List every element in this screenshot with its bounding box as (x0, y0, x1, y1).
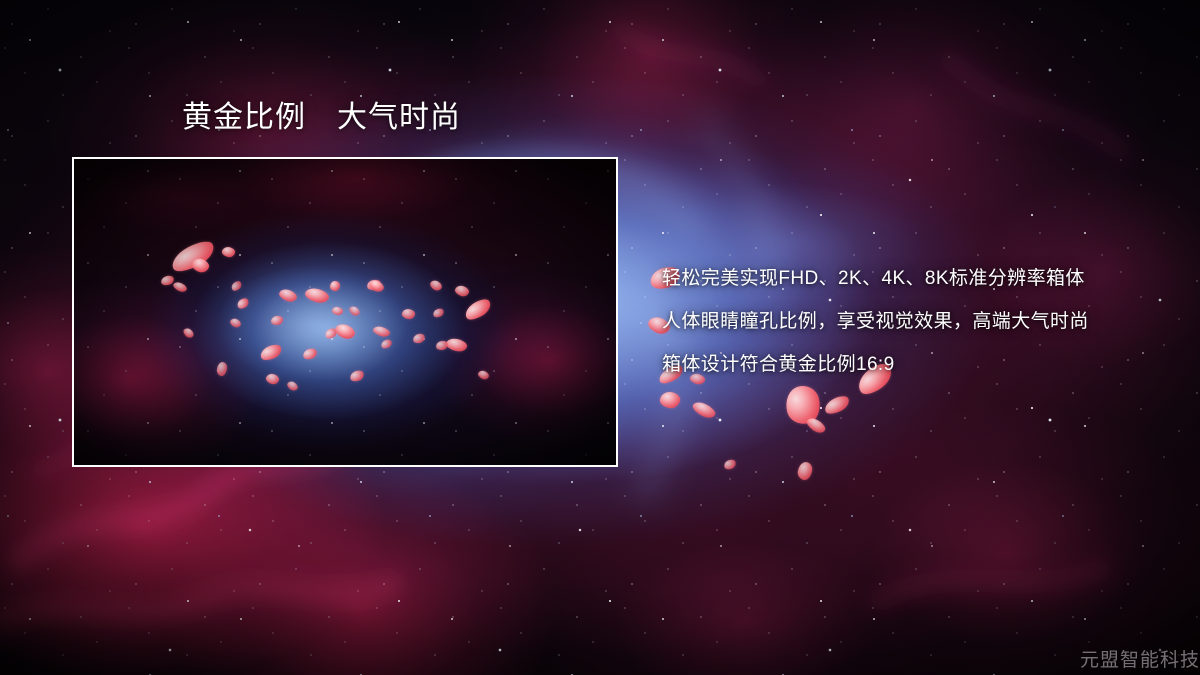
photo-content (74, 159, 616, 465)
petal (659, 391, 681, 410)
watermark: 元盟智能科技 (1080, 645, 1200, 672)
photo-vignette (74, 159, 616, 465)
presentation-slide: 黄金比例 大气时尚 轻松完美实现FHD、2K、4K、8K标准分辨率箱体 人体眼睛… (0, 0, 1200, 675)
petal (822, 393, 852, 417)
slide-title: 黄金比例 大气时尚 (182, 101, 461, 136)
body-line-3: 箱体设计符合黄金比例16:9 (662, 343, 1182, 386)
petal (723, 458, 737, 471)
framed-photo (72, 157, 618, 467)
body-text-block: 轻松完美实现FHD、2K、4K、8K标准分辨率箱体 人体眼睛瞳孔比例，享受视觉效… (662, 257, 1182, 386)
body-line-2: 人体眼睛瞳孔比例，享受视觉效果，高端大气时尚 (662, 300, 1182, 343)
petal (805, 415, 828, 435)
petal (691, 399, 718, 421)
petal (797, 461, 814, 481)
body-line-1: 轻松完美实现FHD、2K、4K、8K标准分辨率箱体 (662, 257, 1182, 300)
